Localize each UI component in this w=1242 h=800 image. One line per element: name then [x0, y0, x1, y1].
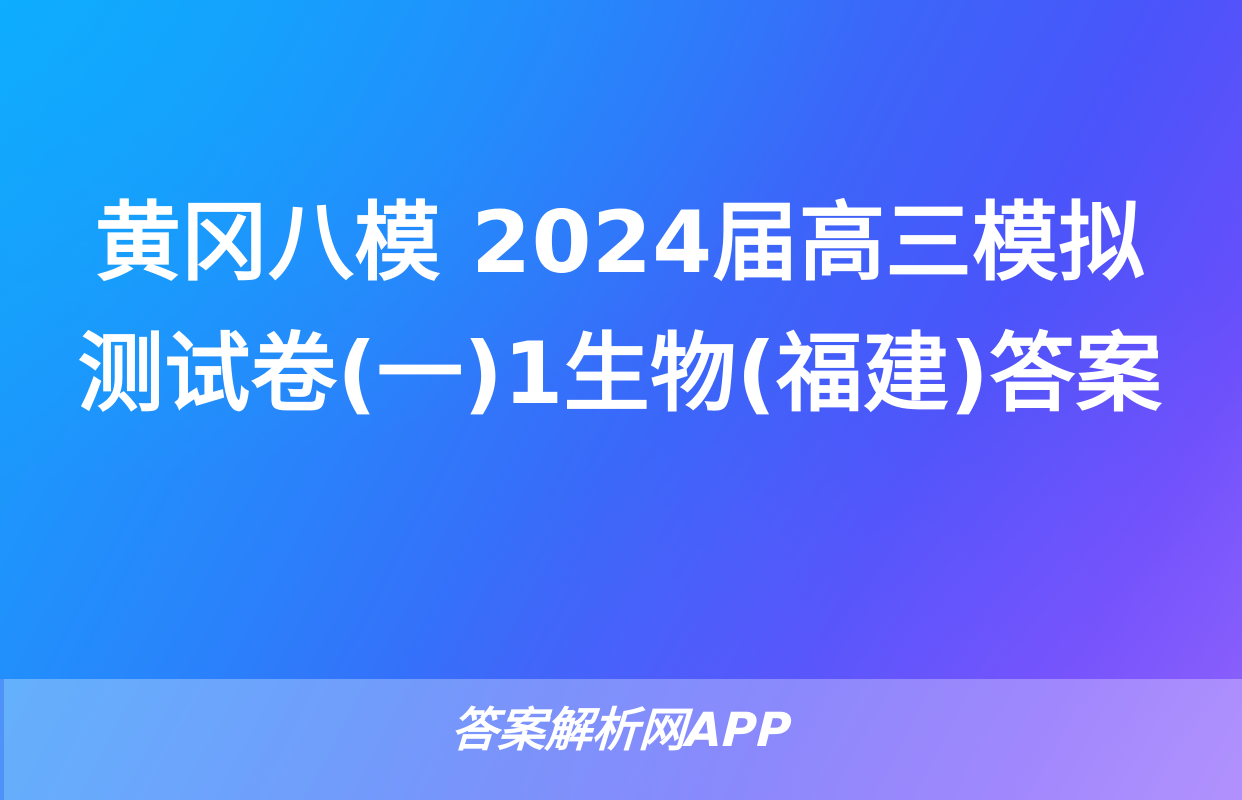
page-title: 黄冈八模 2024届高三模拟测试卷(一)1生物(福建)答案	[70, 178, 1170, 439]
poster-card: 黄冈八模 2024届高三模拟测试卷(一)1生物(福建)答案 答案解析网APP	[0, 0, 1242, 800]
watermark-label: 答案解析网APP	[450, 707, 793, 754]
watermark: 答案解析网APP	[0, 707, 1242, 754]
poster-title-block: 黄冈八模 2024届高三模拟测试卷(一)1生物(福建)答案	[70, 178, 1170, 439]
